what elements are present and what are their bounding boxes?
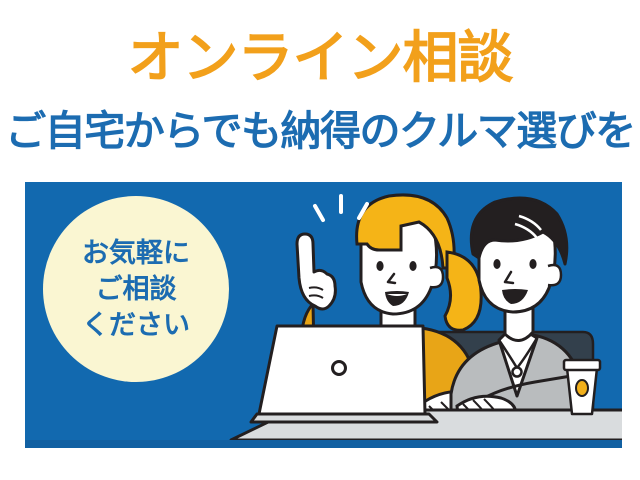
consultation-illustration <box>175 182 622 448</box>
page-subtitle: ご自宅からでも納得のクルマ選びを <box>0 108 640 154</box>
page-title: オンライン相談 <box>0 28 640 88</box>
badge-line-3: ください <box>82 307 190 343</box>
badge-line-2: ご相談 <box>96 271 177 307</box>
laptop-icon <box>251 326 437 422</box>
panel-bottom-edge <box>25 440 622 448</box>
illustration-panel: お気軽に ご相談 ください <box>25 182 622 448</box>
online-consultation-banner: オンライン相談 ご自宅からでも納得のクルマ選びを お気軽に ご相談 ください <box>0 0 640 480</box>
headline-area: オンライン相談 ご自宅からでも納得のクルマ選びを <box>0 0 640 175</box>
sparkle-icon <box>315 196 367 220</box>
badge-line-1: お気軽に <box>82 235 190 271</box>
